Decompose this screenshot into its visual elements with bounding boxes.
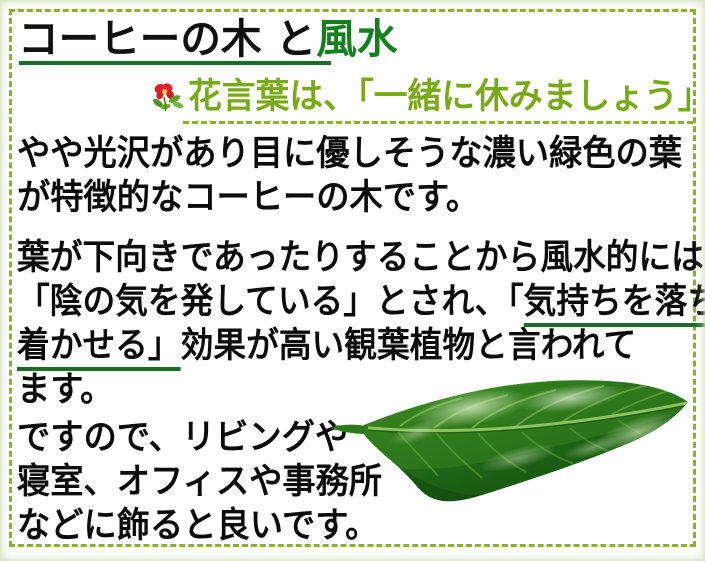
body-text-block: やや光沢があり目に優しそうな濃い緑色の葉 が特徴的なコーヒーの木です。 葉が下向… [17, 132, 697, 562]
body-line: やや光沢があり目に優しそうな濃い緑色の葉 [17, 132, 663, 176]
paragraph-appearance: やや光沢があり目に優しそうな濃い緑色の葉 が特徴的なコーヒーの木です。 [17, 132, 697, 220]
body-line: ます。 [17, 368, 663, 412]
line-post-text: 効果が高い観葉植物と言われて [181, 326, 637, 366]
body-line: 葉が下向きであったりすることから風水的には [17, 236, 653, 280]
body-line: が特徴的なコーヒーの木です。 [17, 176, 663, 220]
line-underlined-text: 着かせる」 [17, 326, 181, 371]
body-line: ですので、リビングや [17, 416, 663, 460]
flower-icon [148, 79, 186, 117]
content-area: コーヒーの木 と風水 [0, 0, 705, 561]
title-underline-rule [19, 61, 331, 65]
title-accent-part: 風水 [316, 15, 397, 63]
body-line-underlined: 着かせる」効果が高い観葉植物と言われて [17, 324, 653, 368]
page-root: コーヒーの木 と風水 [0, 0, 705, 561]
title-text: コーヒーの木 と風水 [18, 16, 397, 62]
subtitle-text: 花言葉は、「一緒に休みましょう」 [188, 77, 705, 117]
title-plain-part: コーヒーの木 と [18, 15, 316, 63]
body-line-underlined: 「陰の気を発している」とされ、「気持ちを落ち [17, 280, 653, 324]
paragraph-fengshui: 葉が下向きであったりすることから風水的には 「陰の気を発している」とされ、「気持… [17, 236, 697, 412]
body-line: 寝室、オフィスや事務所 [17, 460, 663, 504]
line-underlined-text: 気持ちを落ち [524, 282, 705, 327]
paragraph-placement: ですので、リビングや 寝室、オフィスや事務所 などに飾ると良いです。 [17, 416, 697, 548]
body-line: などに飾ると良いです。 [17, 504, 663, 548]
subtitle-row: 花言葉は、「一緒に休みましょう」 [148, 74, 698, 120]
line-pre-text: 「陰の気を発している」とされ、「 [17, 282, 524, 322]
